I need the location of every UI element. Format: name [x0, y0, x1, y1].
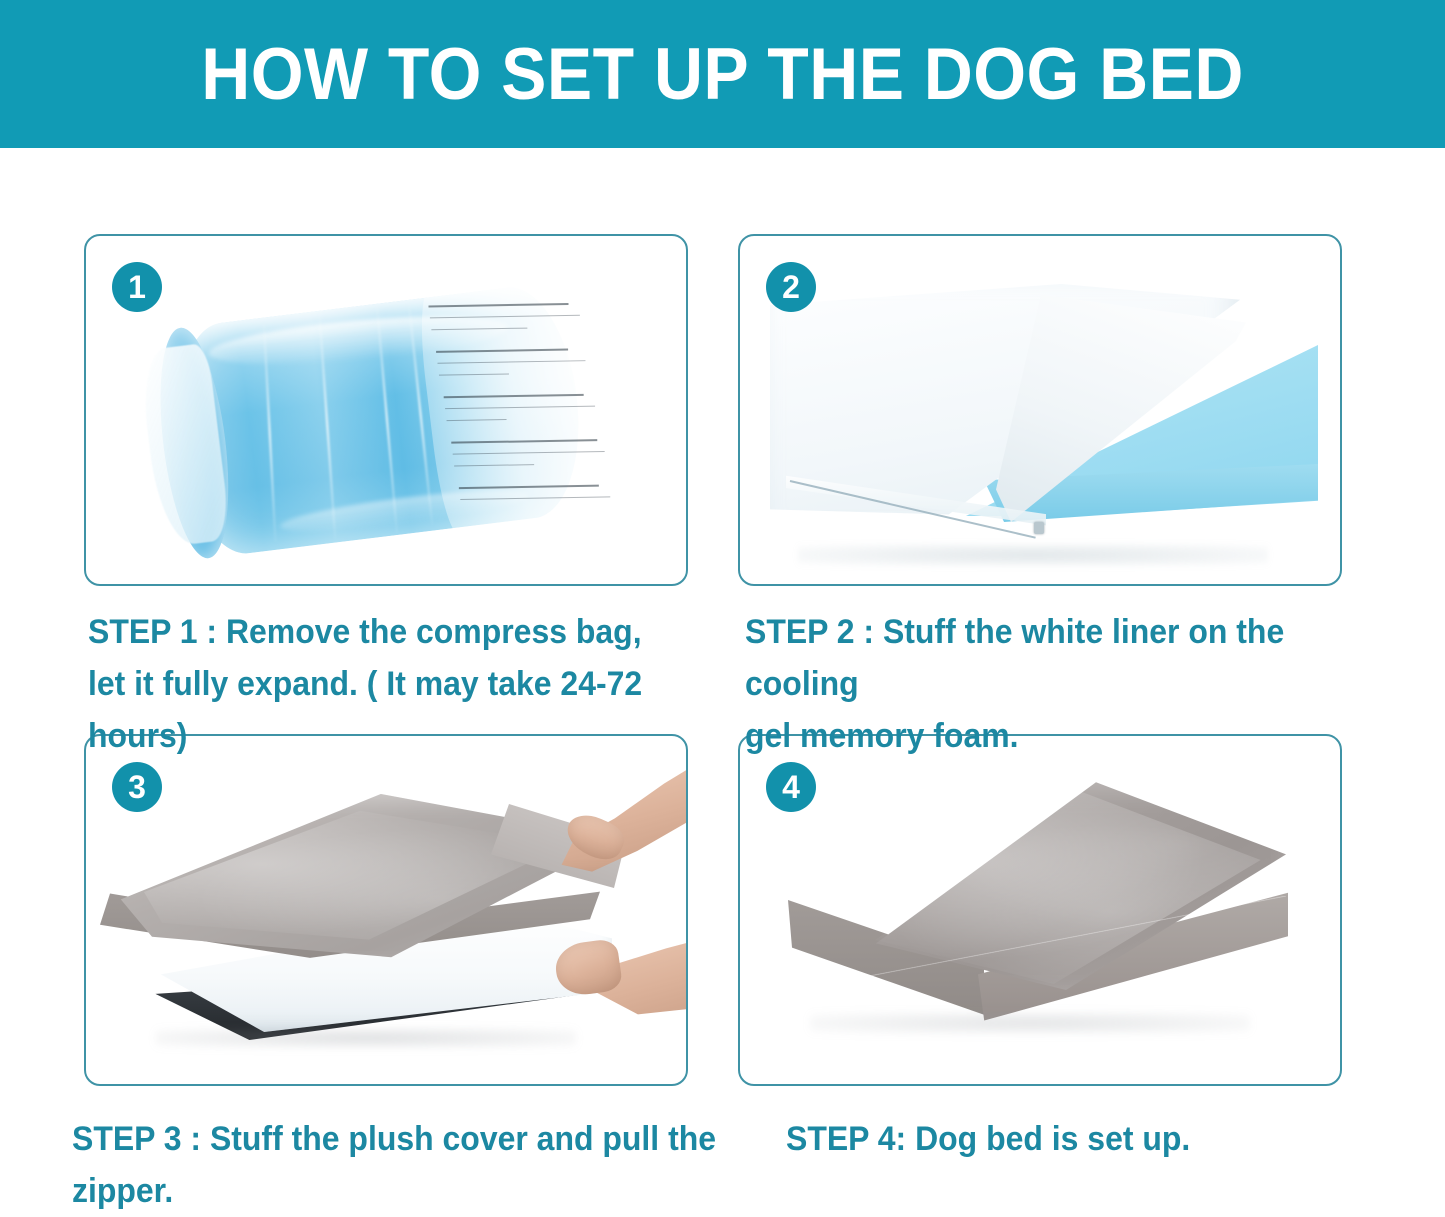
warning-label: [415, 270, 633, 535]
page-title: HOW TO SET UP THE DOG BED: [201, 38, 1244, 111]
zipper-pull-icon: [1034, 522, 1044, 534]
step-image-4: [740, 736, 1340, 1084]
header-band: HOW TO SET UP THE DOG BED: [0, 0, 1445, 148]
compressed-foam-roll: [132, 245, 664, 586]
step-panel-2: 2: [738, 234, 1342, 586]
steps-sheet: 1: [0, 148, 1445, 1171]
step-badge-4: 4: [766, 762, 816, 812]
step-image-1: [86, 236, 686, 584]
step-badge-2: 2: [766, 262, 816, 312]
dog-bed-seam: [786, 896, 1286, 992]
step-caption-3: STEP 3 : Stuff the plush cover and pull …: [72, 1113, 749, 1217]
step-badge-3: 3: [112, 762, 162, 812]
step-panel-4: 4: [738, 734, 1342, 1086]
step-caption-2: STEP 2 : Stuff the white liner on the co…: [745, 606, 1365, 762]
gel-foam-assembly: [758, 276, 1318, 538]
step-image-3: [86, 736, 686, 1084]
step-caption-1: STEP 1 : Remove the compress bag, let it…: [88, 606, 708, 762]
step-panel-1: 1: [84, 234, 688, 586]
step-panel-3: 3: [84, 734, 688, 1086]
step-badge-1: 1: [112, 262, 162, 312]
drop-shadow: [810, 1012, 1250, 1034]
step-image-2: [740, 236, 1340, 584]
drop-shadow: [798, 544, 1268, 566]
step-caption-4: STEP 4: Dog bed is set up.: [786, 1113, 1350, 1165]
drop-shadow: [156, 1028, 576, 1048]
